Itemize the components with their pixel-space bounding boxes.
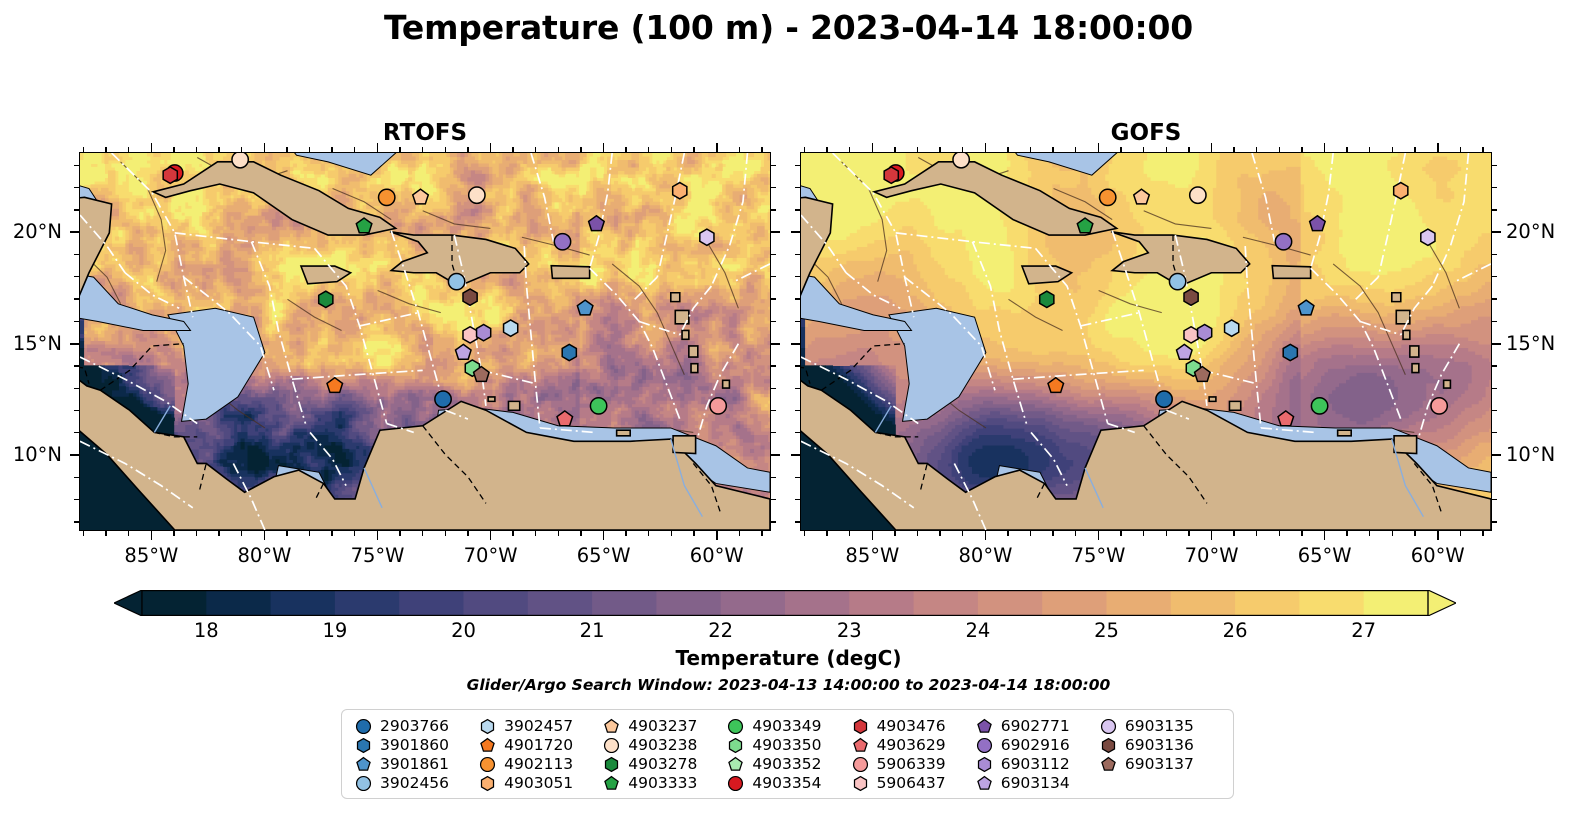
x-tick-top <box>286 147 287 152</box>
x-tick-top <box>467 147 468 152</box>
float-marker[interactable] <box>1311 398 1327 414</box>
legend-item[interactable]: 5906339 <box>851 755 975 774</box>
x-tick <box>603 531 605 540</box>
float-marker[interactable] <box>1184 289 1198 305</box>
float-marker[interactable] <box>1100 189 1116 205</box>
x-tick <box>1437 531 1439 540</box>
float-marker[interactable] <box>448 273 464 289</box>
legend-item[interactable]: 4903350 <box>726 736 850 755</box>
x-tick <box>671 531 672 536</box>
legend-item[interactable]: 4903476 <box>851 717 975 736</box>
x-tick-top <box>1346 147 1347 152</box>
y-tick-right <box>771 432 776 433</box>
landmass <box>1338 430 1352 436</box>
legend-item[interactable]: 4903278 <box>602 755 726 774</box>
x-tick-top <box>1482 147 1483 152</box>
y-tick <box>795 521 800 522</box>
legend-item-label: 5906339 <box>877 755 946 774</box>
y-tick-right <box>771 499 776 500</box>
colorbar-band <box>1107 590 1172 616</box>
float-marker[interactable] <box>590 398 606 414</box>
x-tick-label: 75°W <box>333 544 423 567</box>
x-tick-top <box>849 147 850 152</box>
colorbar-band <box>914 590 979 616</box>
legend-item-label: 6903135 <box>1125 717 1194 736</box>
x-tick-top <box>894 147 895 152</box>
x-tick-top <box>377 143 379 152</box>
legend-item[interactable]: 3902456 <box>354 774 478 793</box>
legend-item-label: 4903352 <box>752 755 821 774</box>
legend-item-label: 4902113 <box>504 755 573 774</box>
y-tick-right <box>771 254 776 255</box>
float-marker[interactable] <box>1275 234 1291 250</box>
float-marker[interactable] <box>469 187 485 203</box>
legend-marker-circle <box>478 755 497 774</box>
colorbar-band <box>1299 590 1364 616</box>
legend-box[interactable]: 2903766390186039018613902456390245749017… <box>341 709 1234 799</box>
x-tick-top <box>1414 147 1415 152</box>
legend-item-label: 4903629 <box>877 736 946 755</box>
float-marker[interactable] <box>700 229 714 245</box>
legend-item-label: 3902457 <box>504 717 573 736</box>
map-panel-gofs[interactable] <box>800 152 1492 531</box>
float-marker[interactable] <box>504 320 518 336</box>
y-tick-right <box>1492 521 1497 522</box>
x-tick <box>512 531 513 536</box>
x-tick-top <box>1392 147 1393 152</box>
legend-item[interactable]: 4902113 <box>478 755 602 774</box>
legend-item[interactable]: 6903137 <box>1099 755 1223 774</box>
x-tick <box>1188 531 1189 536</box>
x-tick-top <box>826 147 827 152</box>
legend-marker-hexagon <box>851 774 870 793</box>
page-title: Temperature (100 m) - 2023-04-14 18:00:0… <box>0 8 1577 47</box>
y-tick-right <box>1492 365 1497 366</box>
legend-item[interactable]: 3901860 <box>354 736 478 755</box>
legend-item-label: 4903238 <box>628 736 697 755</box>
search-window-caption: Glider/Argo Search Window: 2023-04-13 14… <box>0 676 1577 694</box>
legend-item[interactable]: 4901720 <box>478 736 602 755</box>
x-tick <box>467 531 468 536</box>
float-marker[interactable] <box>953 153 969 168</box>
landmass <box>1272 266 1310 279</box>
x-tick <box>1414 531 1415 536</box>
colorbar-band <box>1364 590 1429 616</box>
x-tick <box>105 531 106 536</box>
legend-item[interactable]: 4903354 <box>726 774 850 793</box>
x-tick-label: 65°W <box>1280 544 1370 567</box>
y-tick-right <box>1492 410 1497 411</box>
legend-item[interactable]: 4903238 <box>602 736 726 755</box>
legend-item-label: 4903354 <box>752 774 821 793</box>
colorbar-tick-label: 25 <box>1067 619 1147 642</box>
y-tick <box>795 209 800 210</box>
float-marker[interactable] <box>319 291 333 307</box>
legend-marker-pentagon <box>602 717 621 736</box>
x-tick-label: 75°W <box>1054 544 1144 567</box>
x-tick-top <box>1143 147 1144 152</box>
x-tick <box>1098 531 1100 540</box>
legend-marker-hexagon <box>602 755 621 774</box>
x-tick <box>151 531 153 540</box>
float-marker[interactable] <box>1421 229 1435 245</box>
x-tick <box>849 531 850 536</box>
y-tick <box>74 432 79 433</box>
y-tick-right <box>1492 209 1497 210</box>
legend-item-label: 5906437 <box>877 774 946 793</box>
x-tick <box>894 531 895 536</box>
x-tick <box>1256 531 1257 536</box>
x-tick-label: 70°W <box>1167 544 1257 567</box>
y-tick <box>74 165 79 166</box>
y-tick <box>795 165 800 166</box>
x-tick-label: 65°W <box>559 544 649 567</box>
y-tick-right <box>1492 477 1497 478</box>
float-marker[interactable] <box>477 324 491 340</box>
legend-marker-hexagon <box>478 774 497 793</box>
float-marker[interactable] <box>554 234 570 250</box>
float-marker[interactable] <box>1394 183 1408 199</box>
legend-item-label: 4901720 <box>504 736 573 755</box>
x-tick-top <box>580 147 581 152</box>
landmass <box>508 401 519 410</box>
landmass <box>551 266 589 279</box>
float-marker[interactable] <box>1040 291 1054 307</box>
legend-item[interactable]: 4903237 <box>602 717 726 736</box>
y-tick <box>70 231 79 233</box>
colorbar-tick-label: 18 <box>166 619 246 642</box>
legend-item-label: 6903136 <box>1125 736 1194 755</box>
x-tick <box>962 531 963 536</box>
float-marker[interactable] <box>1431 398 1447 414</box>
float-marker[interactable] <box>884 167 898 183</box>
colorbar-max-extend <box>1428 590 1456 616</box>
x-tick <box>422 531 423 536</box>
y-tick <box>74 209 79 210</box>
y-tick-right <box>1492 231 1501 233</box>
legend-item-label: 4903476 <box>877 717 946 736</box>
y-tick-right <box>771 521 776 522</box>
y-tick <box>795 321 800 322</box>
float-marker[interactable] <box>1225 320 1239 336</box>
float-marker[interactable] <box>1283 344 1297 360</box>
legend-marker-circle <box>726 774 745 793</box>
x-tick-top <box>1369 147 1370 152</box>
y-tick <box>795 388 800 389</box>
float-marker[interactable] <box>562 344 576 360</box>
x-tick-top <box>1075 147 1076 152</box>
x-tick <box>739 531 740 536</box>
legend-item[interactable]: 6902771 <box>975 717 1099 736</box>
x-tick-top <box>1279 147 1280 152</box>
float-marker[interactable] <box>1156 391 1172 407</box>
float-marker[interactable] <box>463 289 477 305</box>
y-tick-right <box>771 165 776 166</box>
panel-title-rtofs: RTOFS <box>79 120 771 146</box>
y-tick <box>795 365 800 366</box>
x-tick-label: 60°W <box>672 544 762 567</box>
y-tick-right <box>771 388 776 389</box>
landmass <box>671 293 680 302</box>
float-marker[interactable] <box>163 167 177 183</box>
x-tick <box>1392 531 1393 536</box>
y-tick <box>791 454 800 456</box>
y-tick <box>74 365 79 366</box>
x-tick-top <box>399 147 400 152</box>
legend-marker-hexagon <box>478 717 497 736</box>
colorbar-tick-label: 23 <box>809 619 889 642</box>
legend-marker-circle <box>602 736 621 755</box>
colorbar-band <box>528 590 593 616</box>
x-tick <box>173 531 174 536</box>
legend-item[interactable]: 6902916 <box>975 736 1099 755</box>
x-tick-top <box>354 147 355 152</box>
landmass <box>1394 436 1417 454</box>
y-tick-right <box>771 298 776 299</box>
y-tick-label-right: 20°N <box>1506 220 1577 243</box>
colorbar-band <box>785 590 850 616</box>
legend-item[interactable]: 6903135 <box>1099 717 1223 736</box>
legend-marker-pentagon <box>851 736 870 755</box>
x-tick-top <box>309 147 310 152</box>
y-tick-right <box>1492 254 1497 255</box>
map-panel-rtofs[interactable] <box>79 152 771 531</box>
y-tick-right <box>771 321 776 322</box>
x-tick <box>445 531 446 536</box>
legend-item-label: 4903350 <box>752 736 821 755</box>
landmass <box>689 346 698 357</box>
legend-item[interactable]: 2903766 <box>354 717 478 736</box>
y-tick-label: 10°N <box>0 443 62 466</box>
y-tick-right <box>771 231 780 233</box>
x-tick-label: 85°W <box>106 544 196 567</box>
landmass <box>723 380 730 388</box>
legend-item[interactable]: 6903112 <box>975 755 1099 774</box>
x-tick <box>490 531 492 540</box>
x-tick-top <box>1166 147 1167 152</box>
float-marker[interactable] <box>435 391 451 407</box>
legend-item[interactable]: 4903349 <box>726 717 850 736</box>
colorbar-tick-label: 21 <box>552 619 632 642</box>
legend-marker-hexagon <box>1099 736 1118 755</box>
y-tick-right <box>1492 454 1501 456</box>
x-tick <box>580 531 581 536</box>
float-marker[interactable] <box>1169 273 1185 289</box>
x-tick-top <box>105 147 106 152</box>
landmass <box>673 436 696 454</box>
y-tick <box>74 298 79 299</box>
y-tick <box>795 410 800 411</box>
x-tick-top <box>761 147 762 152</box>
legend-marker-circle <box>726 717 745 736</box>
legend-marker-pentagon <box>602 774 621 793</box>
legend-item[interactable]: 5906437 <box>851 774 975 793</box>
legend-item-label: 4903333 <box>628 774 697 793</box>
y-tick-right <box>771 343 780 345</box>
x-tick <box>264 531 266 540</box>
y-tick-right <box>1492 343 1501 345</box>
x-tick-top <box>1211 143 1213 152</box>
colorbar-band <box>206 590 271 616</box>
y-tick <box>795 187 800 188</box>
x-tick-top <box>671 147 672 152</box>
legend-item[interactable]: 4903051 <box>478 774 602 793</box>
x-tick-top <box>535 147 536 152</box>
x-tick <box>917 531 918 536</box>
x-tick <box>693 531 694 536</box>
colorbar-band <box>142 590 207 616</box>
y-tick <box>74 499 79 500</box>
legend-marker-circle <box>354 717 373 736</box>
x-tick <box>1120 531 1121 536</box>
x-tick-top <box>1030 147 1031 152</box>
x-tick-top <box>939 147 940 152</box>
y-tick-right <box>1492 187 1497 188</box>
x-tick-top <box>83 147 84 152</box>
x-tick <box>1346 531 1347 536</box>
colorbar-min-extend <box>114 590 142 616</box>
colorbar-band <box>849 590 914 616</box>
x-tick-top <box>173 147 174 152</box>
landmass <box>1412 364 1419 373</box>
x-tick-top <box>241 147 242 152</box>
landmass <box>1410 346 1419 357</box>
x-tick <box>1166 531 1167 536</box>
colorbar-band <box>271 590 336 616</box>
float-marker[interactable] <box>379 189 395 205</box>
legend-item-label: 3902456 <box>380 774 449 793</box>
legend-marker-circle <box>1099 717 1118 736</box>
x-tick <box>761 531 762 536</box>
y-tick <box>74 187 79 188</box>
x-tick <box>83 531 84 536</box>
float-marker[interactable] <box>1190 187 1206 203</box>
legend-marker-hexagon <box>726 736 745 755</box>
colorbar-label: Temperature (degC) <box>0 646 1577 670</box>
x-tick-top <box>422 147 423 152</box>
legend-item[interactable]: 4903629 <box>851 736 975 755</box>
float-marker[interactable] <box>232 153 248 168</box>
float-marker[interactable] <box>1184 327 1198 343</box>
x-tick <box>1301 531 1302 536</box>
x-tick-top <box>218 147 219 152</box>
x-tick-top <box>804 147 805 152</box>
landmass <box>691 364 698 373</box>
y-tick <box>74 521 79 522</box>
landmass <box>1209 397 1216 401</box>
x-tick <box>241 531 242 536</box>
y-tick-right <box>1492 432 1497 433</box>
x-tick-top <box>151 143 153 152</box>
legend-item[interactable]: 4903352 <box>726 755 850 774</box>
x-tick <box>128 531 129 536</box>
x-tick <box>1279 531 1280 536</box>
x-tick-top <box>512 147 513 152</box>
panel-title-gofs: GOFS <box>800 120 1492 146</box>
legend-item-label: 4903278 <box>628 755 697 774</box>
x-tick-top <box>648 147 649 152</box>
x-tick-top <box>1233 147 1234 152</box>
legend-marker-pentagon <box>354 755 373 774</box>
y-tick <box>795 499 800 500</box>
float-marker[interactable] <box>463 327 477 343</box>
colorbar-tick-label: 20 <box>424 619 504 642</box>
legend-marker-pentagon <box>1099 755 1118 774</box>
legend-item[interactable]: 4903333 <box>602 774 726 793</box>
x-tick-top <box>1007 147 1008 152</box>
y-tick <box>74 321 79 322</box>
y-tick <box>74 477 79 478</box>
x-tick <box>804 531 805 536</box>
x-tick-label: 80°W <box>940 544 1030 567</box>
legend-marker-hexagon <box>975 755 994 774</box>
y-tick-right <box>1492 298 1497 299</box>
x-tick-top <box>1324 143 1326 152</box>
x-tick-top <box>445 147 446 152</box>
y-tick <box>795 432 800 433</box>
y-tick-label: 15°N <box>0 332 62 355</box>
legend-item[interactable]: 6903134 <box>975 774 1099 793</box>
y-tick-right <box>771 477 776 478</box>
y-tick <box>74 254 79 255</box>
float-marker[interactable] <box>710 398 726 414</box>
x-tick <box>1211 531 1213 540</box>
legend-item[interactable]: 3902457 <box>478 717 602 736</box>
legend-item[interactable]: 6903136 <box>1099 736 1223 755</box>
x-tick <box>1324 531 1326 540</box>
colorbar <box>114 590 1456 616</box>
x-tick <box>399 531 400 536</box>
colorbar-band <box>1235 590 1300 616</box>
x-tick-top <box>1098 143 1100 152</box>
x-tick-label: 70°W <box>446 544 536 567</box>
y-tick-right <box>771 187 776 188</box>
x-tick <box>309 531 310 536</box>
legend-marker-pentagon <box>478 736 497 755</box>
colorbar-tick-label: 26 <box>1195 619 1275 642</box>
x-tick <box>558 531 559 536</box>
float-marker[interactable] <box>1198 324 1212 340</box>
x-tick <box>1030 531 1031 536</box>
x-tick-top <box>1301 147 1302 152</box>
x-tick <box>331 531 332 536</box>
legend-item-label: 4903349 <box>752 717 821 736</box>
x-tick <box>1460 531 1461 536</box>
float-marker[interactable] <box>673 183 687 199</box>
y-tick <box>74 276 79 277</box>
colorbar-band <box>399 590 464 616</box>
x-tick <box>354 531 355 536</box>
y-tick <box>791 231 800 233</box>
x-tick-top <box>1120 147 1121 152</box>
x-tick <box>1143 531 1144 536</box>
legend-marker-hexagon <box>851 717 870 736</box>
x-tick-top <box>985 143 987 152</box>
x-tick <box>648 531 649 536</box>
landmass <box>1444 380 1451 388</box>
legend-item[interactable]: 3901861 <box>354 755 478 774</box>
colorbar-band <box>656 590 721 616</box>
legend-marker-circle <box>975 736 994 755</box>
legend-item-label: 2903766 <box>380 717 449 736</box>
colorbar-tick-label: 24 <box>938 619 1018 642</box>
x-tick <box>1052 531 1053 536</box>
x-tick <box>1233 531 1234 536</box>
colorbar-band <box>978 590 1043 616</box>
x-tick <box>286 531 287 536</box>
landmass <box>1403 330 1410 339</box>
colorbar-band <box>1042 590 1107 616</box>
